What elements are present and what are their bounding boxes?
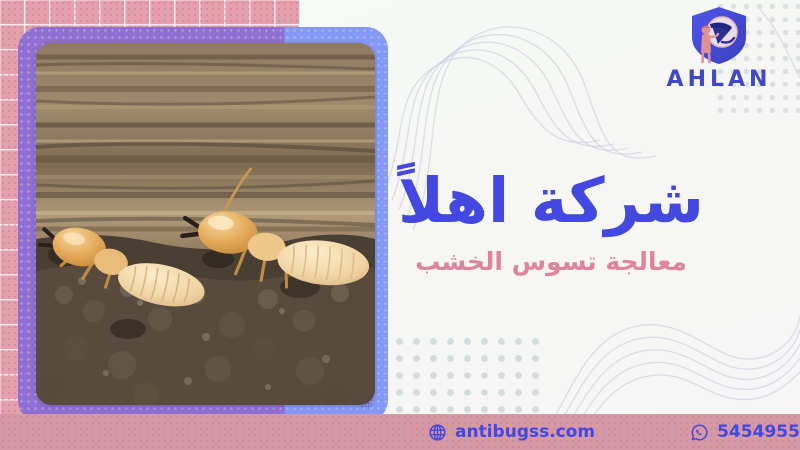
page-title: شركة اهلاً [336, 168, 766, 233]
footer-dot-texture [0, 414, 800, 450]
globe-icon [428, 423, 447, 442]
brand-logo: AHLAN [660, 4, 778, 92]
poster-canvas: AHLAN شركة اهلاً معالجة تسوس الخشب antib… [0, 0, 800, 450]
contact-footer-bar: antibugss.com 545495578 [0, 414, 800, 450]
shield-pest-control-icon [660, 4, 778, 66]
whatsapp-contact[interactable]: 545495578 [690, 422, 800, 442]
page-subtitle: معالجة تسوس الخشب [336, 247, 766, 276]
termite-photo [36, 43, 375, 405]
brand-wordmark: AHLAN [660, 67, 778, 92]
phone-label: 545495578 [717, 422, 800, 442]
headline-block: شركة اهلاً معالجة تسوس الخشب [336, 168, 766, 276]
website-label: antibugss.com [455, 422, 595, 442]
whatsapp-icon [690, 423, 709, 442]
website-contact[interactable]: antibugss.com [428, 422, 595, 442]
